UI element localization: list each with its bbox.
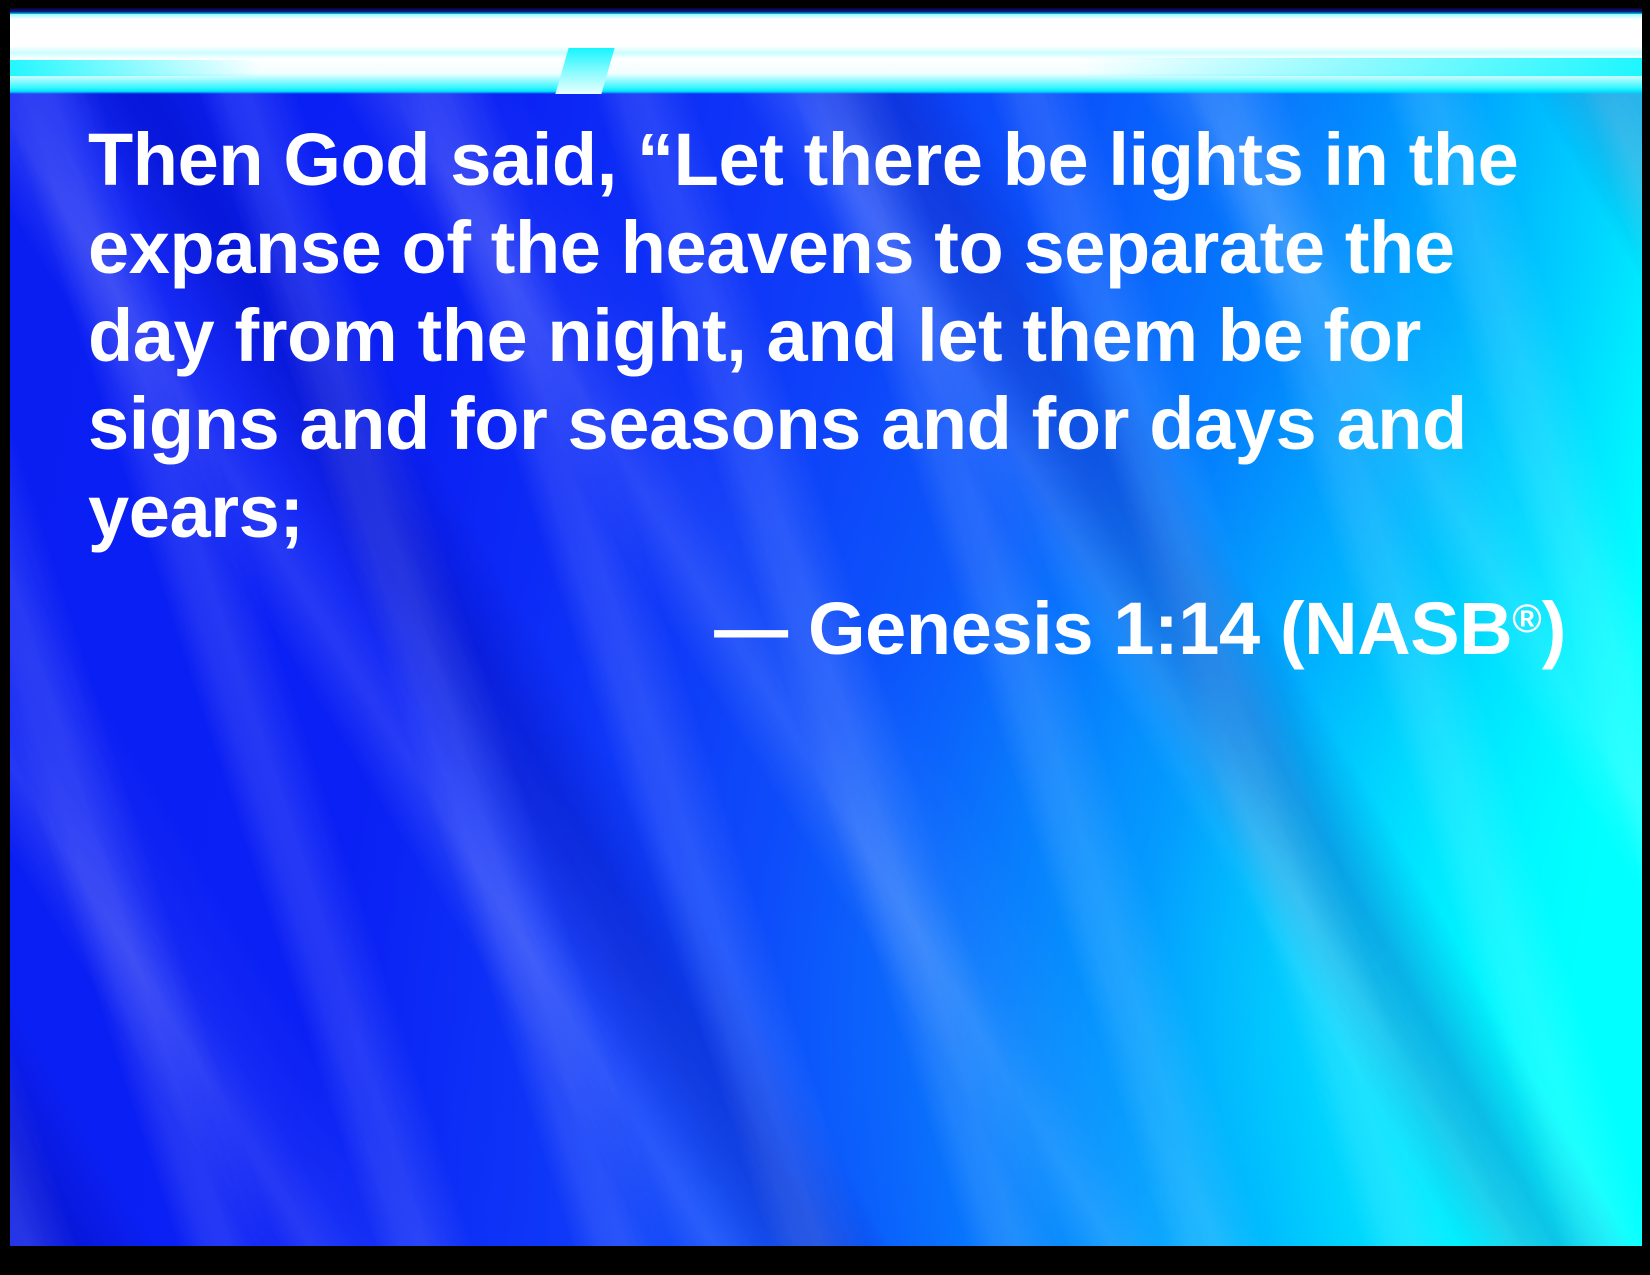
citation-version-close-paren: ) [1542,587,1566,670]
verse-citation: — Genesis 1:14 (NASB®) [88,578,1570,670]
top-highlight-notch [555,48,614,94]
top-highlight-bar [10,8,1642,94]
citation-em-dash: — [714,587,788,670]
slide-canvas: Then God said, “Let there be lights in t… [10,8,1642,1246]
registered-trademark-icon: ® [1512,597,1541,641]
slide-frame: Then God said, “Let there be lights in t… [0,0,1650,1275]
top-hairline [10,8,1642,14]
citation-version-open-paren: (NASB [1280,587,1512,670]
verse-body-text: Then God said, “Let there be lights in t… [88,116,1570,556]
verse-text-layer: Then God said, “Let there be lights in t… [88,116,1570,670]
top-highlight-wisp-left [10,60,260,76]
citation-reference: Genesis 1:14 [808,587,1260,670]
top-highlight-wisp-right [1082,58,1642,76]
